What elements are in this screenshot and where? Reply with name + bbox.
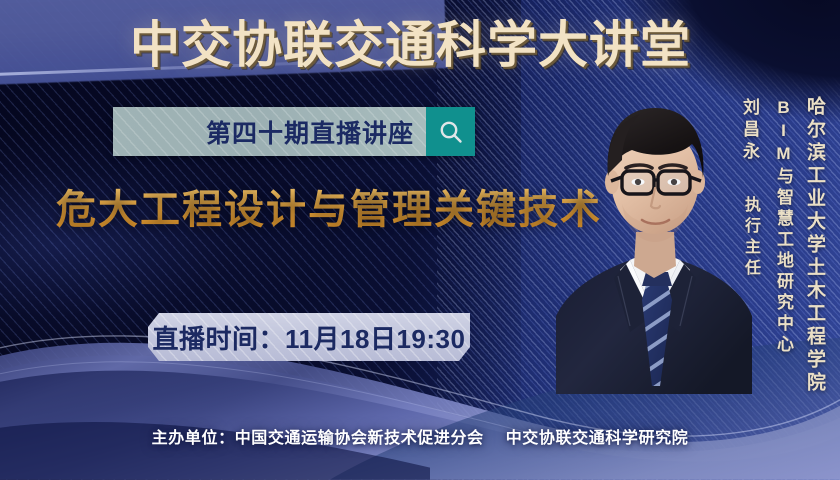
footer-organizer-1: 中国交通运输协会新技术促进分会 [235, 430, 484, 447]
speaker-affiliation-school: 哈尔滨工业大学土木工程学院 [801, 96, 828, 395]
webinar-poster: 中交协联交通科学大讲堂 第四十期直播讲座 危大工程设计与管理关键技术 直播时间：… [0, 0, 840, 480]
footer-organizers: 主办单位：中国交通运输协会新技术促进分会中交协联交通科学研究院 [0, 424, 840, 448]
speaker-affiliation-center: BIM与智慧工地研究中心 [771, 98, 796, 356]
episode-bar: 第四十期直播讲座 [113, 107, 475, 156]
broadcast-time-label: 直播时间：11月18日19:30 [153, 319, 466, 356]
page-title: 中交协联交通科学大讲堂 [130, 16, 691, 74]
footer-organizer-2: 中交协联交通科学研究院 [506, 430, 689, 447]
footer-prefix: 主办单位： [152, 430, 235, 447]
speaker-role: 执行主任 [738, 196, 762, 280]
episode-bar-body: 第四十期直播讲座 [113, 107, 426, 156]
broadcast-time-banner: 直播时间：11月18日19:30 [148, 313, 470, 361]
episode-label: 第四十期直播讲座 [206, 114, 414, 150]
lecture-topic: 危大工程设计与管理关键技术 [56, 186, 602, 234]
speaker-name: 刘昌永 [737, 98, 762, 164]
search-icon[interactable] [426, 107, 475, 156]
